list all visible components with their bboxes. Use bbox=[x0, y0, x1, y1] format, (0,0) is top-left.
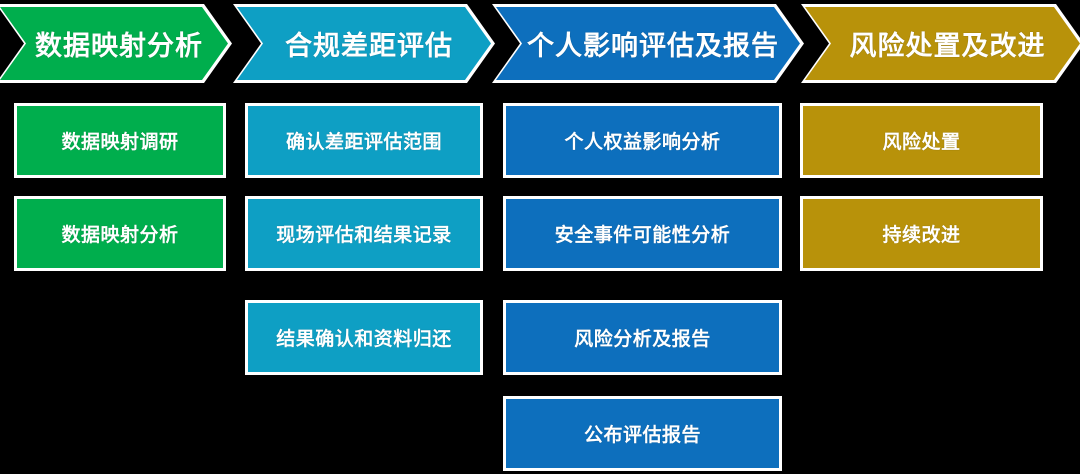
step-box[interactable]: 确认差距评估范围 bbox=[245, 103, 483, 178]
phase-header-2-label: 合规差距评估 bbox=[275, 24, 453, 63]
step-label: 确认差距评估范围 bbox=[286, 127, 442, 154]
phase-header-4-label: 风险处置及改进 bbox=[840, 24, 1046, 63]
process-flow-diagram: 数据映射分析 合规差距评估 个人影响评估及报告 风险处置及改进 数据映射调研 数… bbox=[0, 0, 1080, 474]
step-label: 公布评估报告 bbox=[584, 420, 701, 447]
step-box[interactable]: 风险处置 bbox=[800, 103, 1043, 178]
step-box[interactable]: 持续改进 bbox=[800, 196, 1043, 271]
step-box[interactable]: 数据映射调研 bbox=[14, 103, 226, 178]
phase-header-2[interactable]: 合规差距评估 bbox=[237, 7, 491, 80]
step-label: 安全事件可能性分析 bbox=[555, 220, 731, 247]
phase-header-4[interactable]: 风险处置及改进 bbox=[805, 7, 1080, 80]
phase-header-1-label: 数据映射分析 bbox=[25, 24, 203, 63]
phase-header-1[interactable]: 数据映射分析 bbox=[0, 7, 228, 80]
phase-header-3[interactable]: 个人影响评估及报告 bbox=[496, 7, 800, 80]
step-label: 现场评估和结果记录 bbox=[276, 220, 452, 247]
step-label: 持续改进 bbox=[882, 220, 960, 247]
step-box[interactable]: 个人权益影响分析 bbox=[503, 103, 782, 178]
step-box[interactable]: 结果确认和资料归还 bbox=[245, 300, 483, 375]
step-box[interactable]: 安全事件可能性分析 bbox=[503, 196, 782, 271]
phase-header-3-label: 个人影响评估及报告 bbox=[517, 24, 779, 63]
phase-header-row: 数据映射分析 合规差距评估 个人影响评估及报告 风险处置及改进 bbox=[0, 0, 1080, 88]
step-label: 数据映射分析 bbox=[61, 220, 178, 247]
step-box[interactable]: 风险分析及报告 bbox=[503, 300, 782, 375]
step-box[interactable]: 现场评估和结果记录 bbox=[245, 196, 483, 271]
step-label: 风险分析及报告 bbox=[574, 324, 711, 351]
step-label: 结果确认和资料归还 bbox=[276, 324, 452, 351]
step-label: 数据映射调研 bbox=[61, 127, 178, 154]
step-label: 个人权益影响分析 bbox=[564, 127, 720, 154]
step-box[interactable]: 公布评估报告 bbox=[503, 396, 782, 471]
step-label: 风险处置 bbox=[882, 127, 960, 154]
step-box[interactable]: 数据映射分析 bbox=[14, 196, 226, 271]
